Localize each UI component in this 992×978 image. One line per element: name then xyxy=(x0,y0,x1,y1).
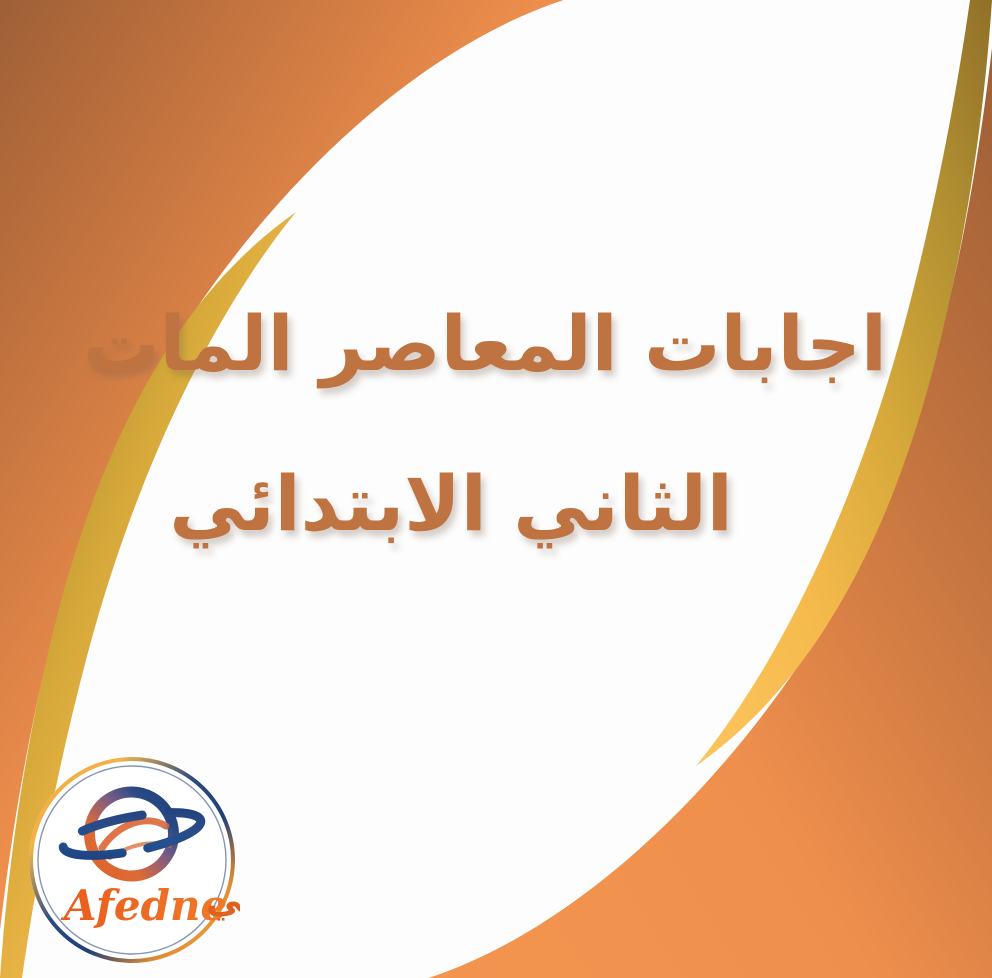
logo-latin-text: Afedne xyxy=(60,881,227,930)
page-title: اجابات المعاصر المات الثاني الابتدائي xyxy=(0,285,992,563)
afedne-logo[interactable]: Afedne أفدني xyxy=(24,752,240,968)
title-line-1: اجابات المعاصر المات xyxy=(0,285,992,403)
title-line-2: الثاني الابتدائي xyxy=(0,445,992,563)
logo-arabic-text: أفدني xyxy=(206,876,240,921)
cover-page: اجابات المعاصر المات الثاني الابتدائي xyxy=(0,0,992,978)
